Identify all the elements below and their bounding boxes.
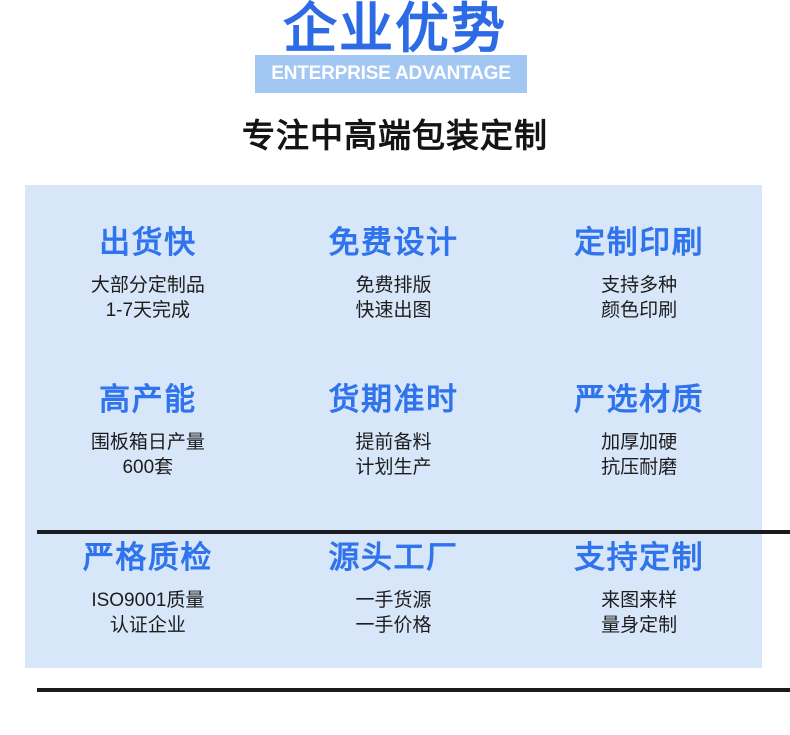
advantage-desc: 支持多种 颜色印刷 (601, 273, 677, 323)
advantage-cell-chuhuokuai[interactable]: 出货快 大部分定制品 1-7天完成 (25, 185, 271, 347)
page-title-en: ENTERPRISE ADVANTAGE (255, 60, 527, 88)
advantage-row: 严格质检 ISO9001质量 认证企业 源头工厂 一手货源 一手价格 支持定制 … (25, 508, 762, 668)
advantage-title: 出货快 (99, 223, 197, 263)
row-divider (37, 688, 790, 692)
advantage-desc: 提前备料 计划生产 (356, 430, 432, 480)
advantage-title: 严格质检 (83, 538, 213, 578)
advantage-row: 高产能 围板箱日产量 600套 货期准时 提前备料 计划生产 严选材质 加厚加硬… (25, 350, 762, 505)
advantage-desc: 大部分定制品 1-7天完成 (91, 273, 205, 323)
advantage-title: 货期准时 (329, 380, 459, 420)
advantage-cell-gaochanneng[interactable]: 高产能 围板箱日产量 600套 (25, 350, 271, 505)
advantage-title: 源头工厂 (329, 538, 459, 578)
advantage-cell-yuantougongchang[interactable]: 源头工厂 一手货源 一手价格 (271, 508, 517, 668)
page-title-cn: 企业优势 (0, 0, 790, 60)
advantage-title: 定制印刷 (574, 223, 704, 263)
advantage-cell-yanxuancaizhi[interactable]: 严选材质 加厚加硬 抗压耐磨 (516, 350, 762, 505)
advantage-desc: 来图来样 量身定制 (601, 588, 677, 638)
advantage-panel: 出货快 大部分定制品 1-7天完成 免费设计 免费排版 快速出图 定制印刷 支持… (25, 185, 762, 668)
advantage-desc: 围板箱日产量 600套 (91, 430, 205, 480)
advantage-title: 支持定制 (574, 538, 704, 578)
advantage-title: 严选材质 (574, 380, 704, 420)
advantage-desc: 免费排版 快速出图 (356, 273, 432, 323)
advantage-desc: 一手货源 一手价格 (356, 588, 432, 638)
advantage-cell-yangezhijian[interactable]: 严格质检 ISO9001质量 认证企业 (25, 508, 271, 668)
advantage-title: 免费设计 (329, 223, 459, 263)
advantage-cell-huoqizhunshi[interactable]: 货期准时 提前备料 计划生产 (271, 350, 517, 505)
page-header: 企业优势 ENTERPRISE ADVANTAGE (0, 0, 790, 100)
advantage-cell-dingzhiyinshua[interactable]: 定制印刷 支持多种 颜色印刷 (516, 185, 762, 347)
advantage-desc: ISO9001质量 认证企业 (91, 588, 204, 638)
advantage-desc: 加厚加硬 抗压耐磨 (601, 430, 677, 480)
advantage-cell-zhichidingzhi[interactable]: 支持定制 来图来样 量身定制 (516, 508, 762, 668)
advantage-cell-mianfeisheji[interactable]: 免费设计 免费排版 快速出图 (271, 185, 517, 347)
page-subtitle: 专注中高端包装定制 (0, 112, 790, 160)
advantage-row: 出货快 大部分定制品 1-7天完成 免费设计 免费排版 快速出图 定制印刷 支持… (25, 185, 762, 347)
advantage-title: 高产能 (99, 380, 197, 420)
